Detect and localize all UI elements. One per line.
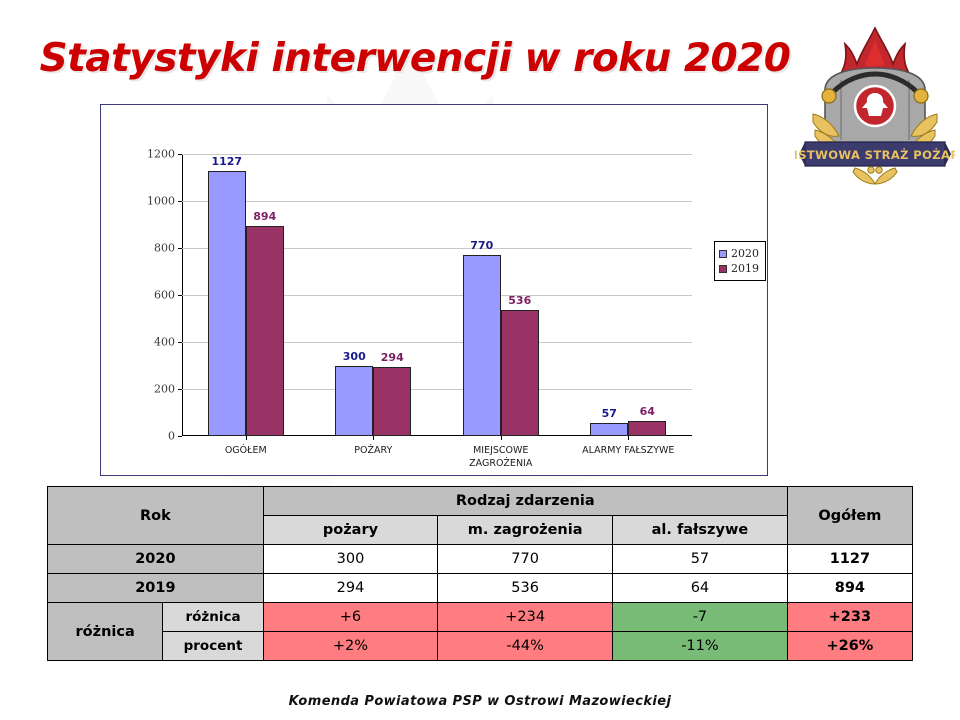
statistics-table-wrap: Rok Rodzaj zdarzenia Ogółem pożary m. za… (47, 486, 913, 661)
chart-bar-pair: 300294 (335, 154, 411, 436)
cell-diff-pozary: +6 (263, 603, 437, 632)
chart-bar-value-label: 894 (253, 210, 276, 223)
chart-bar-pair: 5764 (590, 154, 666, 436)
cell-2019-total: 894 (787, 574, 912, 603)
legend-item-2019: 2019 (719, 261, 759, 276)
chart-bar-2020-miejscowe-zagrożenia[interactable]: 770 (463, 255, 501, 436)
header-ogolem: Ogółem (787, 487, 912, 545)
x-axis-category-label: ALARMY FAŁSZYWE (582, 444, 674, 457)
chart-bar-2020-ogółem[interactable]: 1127 (208, 171, 246, 436)
row-label-2019: 2019 (48, 574, 264, 603)
svg-text:PAŃSTWOWA STRAŻ POŻARNA: PAŃSTWOWA STRAŻ POŻARNA (795, 147, 955, 162)
x-axis-tick-mark (373, 436, 374, 440)
chart-bar-2020-alarmy-fałszywe[interactable]: 57 (590, 423, 628, 436)
x-axis-category-label: POŻARY (354, 444, 392, 457)
chart-bar-2020-pożary[interactable]: 300 (335, 366, 373, 437)
cell-pct-total: +26% (787, 632, 912, 661)
psp-emblem-logo: PAŃSTWOWA STRAŻ POŻARNA (795, 18, 955, 188)
chart-bar-value-label: 57 (602, 407, 617, 420)
y-axis-tick-label: 0 (168, 430, 175, 443)
cell-2020-pozary: 300 (263, 545, 437, 574)
legend-item-2020: 2020 (719, 246, 759, 261)
chart-container: 0200400600800100012001127894OGÓŁEM300294… (100, 104, 768, 476)
chart-bar-2019-ogółem[interactable]: 894 (246, 226, 284, 436)
table-row-2019: 2019 294 536 64 894 (48, 574, 913, 603)
header-subcol-al-falszywe: al. fałszywe (613, 516, 788, 545)
x-axis-category-label: MIEJSCOWEZAGROŻENIA (469, 444, 532, 470)
statistics-table: Rok Rodzaj zdarzenia Ogółem pożary m. za… (47, 486, 913, 661)
footer-text: Komenda Powiatowa PSP w Ostrowi Mazowiec… (0, 694, 960, 709)
legend-label-2019: 2019 (731, 261, 759, 276)
legend-label-2020: 2020 (731, 246, 759, 261)
header-subcol-pozary: pożary (263, 516, 437, 545)
page-title: Statystyki interwencji w roku 2020 (0, 36, 830, 81)
chart-bar-2019-pożary[interactable]: 294 (373, 367, 411, 436)
y-axis-tick-label: 600 (154, 289, 175, 302)
table-row-procent: procent +2% -44% -11% +26% (48, 632, 913, 661)
cell-diff-zagrozenia: +234 (438, 603, 613, 632)
chart-category-group: 5764ALARMY FAŁSZYWE (565, 154, 693, 436)
y-axis-tick-label: 1200 (147, 148, 175, 161)
table-header-row-1: Rok Rodzaj zdarzenia Ogółem (48, 487, 913, 516)
cell-pct-pozary: +2% (263, 632, 437, 661)
cell-pct-falszywe: -11% (613, 632, 788, 661)
chart-category-group: 1127894OGÓŁEM (182, 154, 310, 436)
chart-plot-area: 0200400600800100012001127894OGÓŁEM300294… (182, 154, 692, 436)
chart-bar-value-label: 770 (470, 239, 493, 252)
x-axis-category-label: OGÓŁEM (225, 444, 267, 457)
y-axis-tick-label: 1000 (147, 195, 175, 208)
x-axis-tick-mark (628, 436, 629, 440)
header-subcol-m-zagrozenia: m. zagrożenia (438, 516, 613, 545)
row-group-label-roznica: różnica (48, 603, 163, 661)
y-axis-tick-mark (178, 436, 182, 437)
table-row-roznica: różnica różnica +6 +234 -7 +233 (48, 603, 913, 632)
chart-bar-value-label: 64 (640, 405, 655, 418)
chart-plot: 0200400600800100012001127894OGÓŁEM300294… (139, 129, 739, 441)
row-sublabel-roznica: różnica (163, 603, 263, 632)
legend-swatch-2020-icon (719, 250, 727, 258)
cell-diff-total: +233 (787, 603, 912, 632)
table-row-2020: 2020 300 770 57 1127 (48, 545, 913, 574)
chart-bar-pair: 770536 (463, 154, 539, 436)
chart-bar-value-label: 300 (343, 350, 366, 363)
cell-diff-falszywe: -7 (613, 603, 788, 632)
x-axis-tick-mark (501, 436, 502, 440)
chart-bar-value-label: 1127 (211, 155, 242, 168)
chart-category-group: 300294POŻARY (310, 154, 438, 436)
chart-bar-value-label: 294 (381, 351, 404, 364)
row-label-2020: 2020 (48, 545, 264, 574)
cell-2020-zagrozenia: 770 (438, 545, 613, 574)
cell-pct-zagrozenia: -44% (438, 632, 613, 661)
cell-2020-total: 1127 (787, 545, 912, 574)
cell-2020-falszywe: 57 (613, 545, 788, 574)
header-rok: Rok (48, 487, 264, 545)
chart-bar-pair: 1127894 (208, 154, 284, 436)
cell-2019-zagrozenia: 536 (438, 574, 613, 603)
y-axis-tick-label: 800 (154, 242, 175, 255)
chart-category-group: 770536MIEJSCOWEZAGROŻENIA (437, 154, 565, 436)
cell-2019-falszywe: 64 (613, 574, 788, 603)
chart-bar-value-label: 536 (508, 294, 531, 307)
chart-legend: 2020 2019 (714, 241, 766, 281)
y-axis-tick-label: 200 (154, 383, 175, 396)
header-rodzaj-zdarzenia: Rodzaj zdarzenia (263, 487, 787, 516)
chart-bar-2019-miejscowe-zagrożenia[interactable]: 536 (501, 310, 539, 436)
legend-swatch-2019-icon (719, 265, 727, 273)
cell-2019-pozary: 294 (263, 574, 437, 603)
row-sublabel-procent: procent (163, 632, 263, 661)
y-axis-tick-label: 400 (154, 336, 175, 349)
chart-bar-2019-alarmy-fałszywe[interactable]: 64 (628, 421, 666, 436)
x-axis-tick-mark (246, 436, 247, 440)
